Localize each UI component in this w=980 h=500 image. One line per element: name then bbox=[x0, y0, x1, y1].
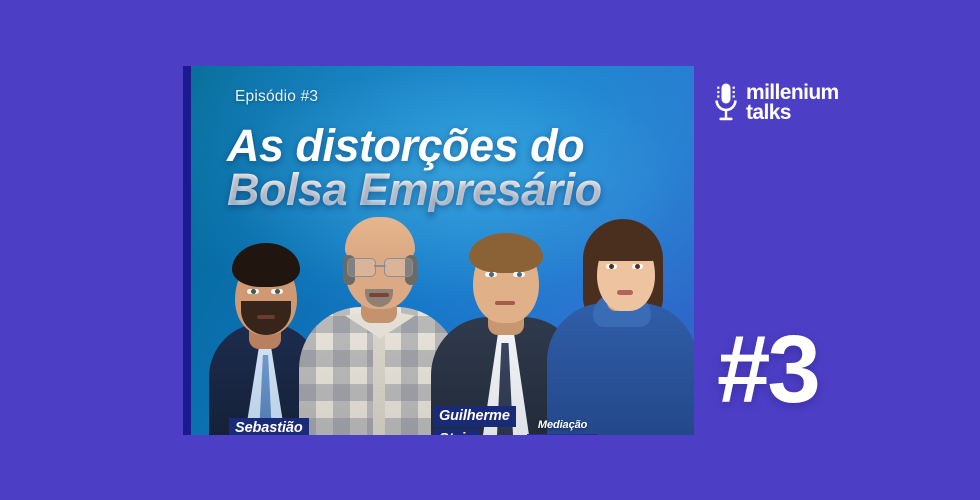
guest-last-name: Stein bbox=[433, 429, 480, 435]
hair bbox=[232, 243, 300, 287]
mouth bbox=[617, 290, 633, 295]
episode-title: As distorções do Bolsa Empresário bbox=[227, 124, 667, 212]
pupil-right bbox=[635, 264, 640, 269]
pupil-left bbox=[251, 289, 256, 294]
card-left-accent-bar bbox=[183, 66, 191, 435]
host-role-label: Mediação bbox=[527, 420, 598, 434]
mouth bbox=[369, 293, 389, 297]
pupil-left bbox=[609, 264, 614, 269]
participant-photo-marina-helena bbox=[547, 209, 694, 435]
pupil-right bbox=[517, 272, 522, 277]
mouth bbox=[495, 301, 515, 305]
hair bbox=[469, 233, 543, 273]
title-line-2: Bolsa Empresário bbox=[227, 168, 667, 212]
hair-fringe bbox=[591, 227, 661, 261]
brand-logo[interactable]: millenium talks bbox=[713, 82, 839, 124]
participants-group bbox=[191, 205, 694, 435]
brand-wordmark: millenium talks bbox=[746, 83, 839, 123]
brand-word-talks: talks bbox=[746, 103, 839, 123]
name-badge-marina-helena: Mediação Marina Helena bbox=[527, 420, 598, 435]
pupil-left bbox=[489, 272, 494, 277]
mouth bbox=[257, 315, 275, 319]
guest-first-name: Sebastião bbox=[229, 418, 309, 435]
host-first-name: Marina bbox=[527, 434, 598, 435]
pupil-right bbox=[275, 289, 280, 294]
bald-head bbox=[345, 217, 415, 257]
episode-label: Episódio #3 bbox=[235, 88, 318, 106]
guest-first-name: Guilherme bbox=[433, 406, 516, 427]
name-badge-sebastiao-ventura: Sebastião Ventura bbox=[229, 418, 309, 435]
microphone-icon bbox=[713, 82, 739, 124]
eyeglasses-icon bbox=[347, 258, 413, 275]
episode-thumbnail-card[interactable]: Episódio #3 As distorções do Bolsa Empre… bbox=[183, 66, 694, 435]
episode-number-display: #3 bbox=[717, 322, 818, 418]
name-badge-guilherme-stein: Guilherme Stein bbox=[433, 406, 516, 435]
poster-background: Episódio #3 As distorções do Bolsa Empre… bbox=[0, 0, 980, 500]
